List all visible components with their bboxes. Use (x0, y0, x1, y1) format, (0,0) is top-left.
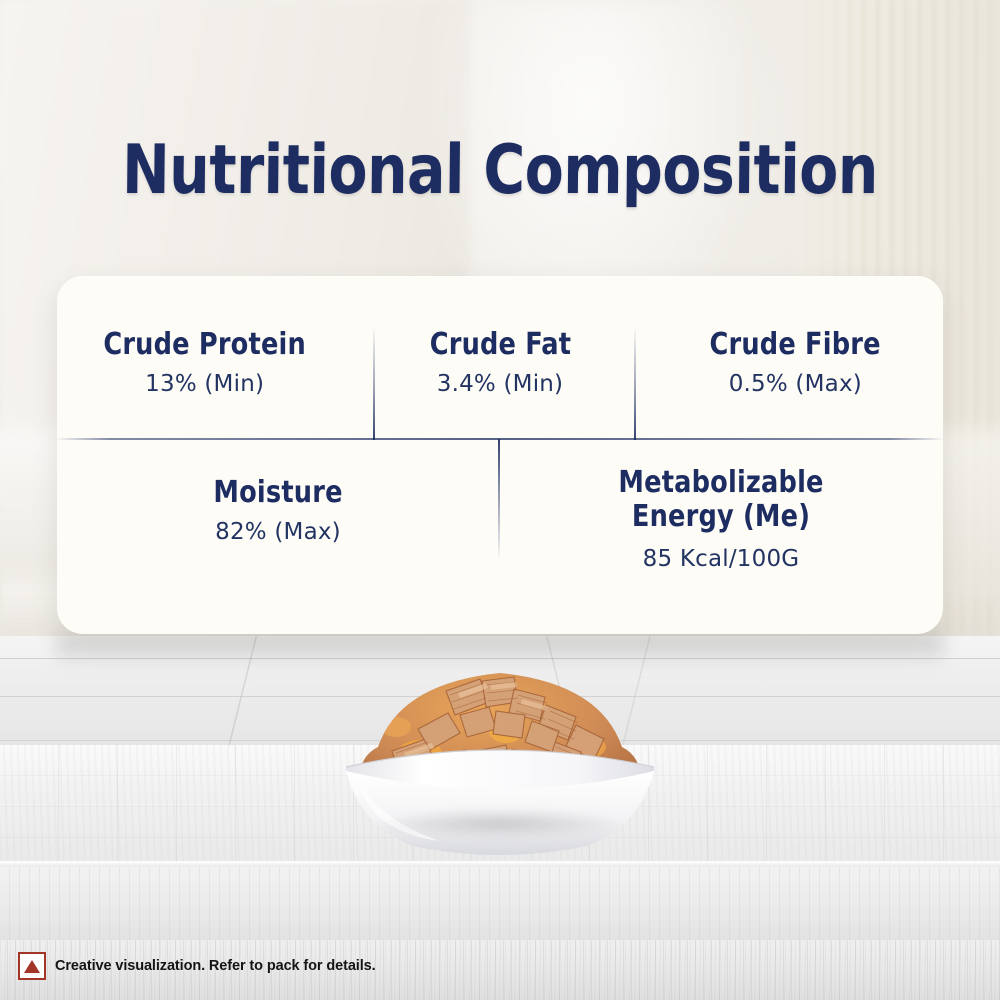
nutrient-value: 82% (Max) (215, 519, 341, 545)
product-infographic: Nutritional Composition Crude Protein 13… (0, 0, 1000, 1000)
nutrition-row-2: Moisture 82% (Max) Metabolizable Energy … (57, 460, 943, 620)
triangle-glyph (24, 960, 40, 973)
nutrient-cell-crude-protein: Crude Protein 13% (Min) (57, 320, 352, 455)
product-bowl (300, 655, 700, 855)
nutrient-value: 13% (Min) (145, 371, 264, 397)
nutrient-value: 3.4% (Min) (437, 371, 564, 397)
nutrient-value: 0.5% (Max) (729, 371, 862, 397)
counter-front-face (0, 867, 1000, 942)
nutrition-card: Crude Protein 13% (Min) Crude Fat 3.4% (… (57, 276, 943, 634)
nutrient-cell-crude-fat: Crude Fat 3.4% (Min) (352, 320, 647, 455)
nutrient-label: Crude Fat (429, 328, 571, 362)
nutrient-label: Moisture (213, 476, 342, 510)
nutrient-label: Metabolizable Energy (Me) (618, 466, 823, 534)
nutrient-label: Crude Fibre (710, 328, 881, 362)
divider-vertical-fat-fibre (634, 330, 636, 440)
footer-disclaimer: Creative visualization. Refer to pack fo… (18, 952, 376, 980)
disclaimer-text: Creative visualization. Refer to pack fo… (55, 958, 376, 974)
nutrient-label: Crude Protein (103, 328, 306, 362)
divider-horizontal (57, 438, 943, 440)
bowl-shadow (328, 803, 672, 843)
non-veg-triangle-icon (18, 952, 46, 980)
page-title: Nutritional Composition (35, 131, 966, 210)
divider-vertical-moisture-energy (498, 439, 500, 557)
nutrition-row-1: Crude Protein 13% (Min) Crude Fat 3.4% (… (57, 320, 943, 455)
nutrient-cell-crude-fibre: Crude Fibre 0.5% (Max) (648, 320, 943, 455)
nutrient-cell-metabolizable-energy: Metabolizable Energy (Me) 85 Kcal/100G (499, 460, 943, 620)
nutrient-cell-moisture: Moisture 82% (Max) (57, 460, 499, 620)
divider-vertical-protein-fat (373, 330, 375, 440)
counter-front-grain (0, 867, 1000, 942)
nutrient-value: 85 Kcal/100G (643, 546, 800, 572)
